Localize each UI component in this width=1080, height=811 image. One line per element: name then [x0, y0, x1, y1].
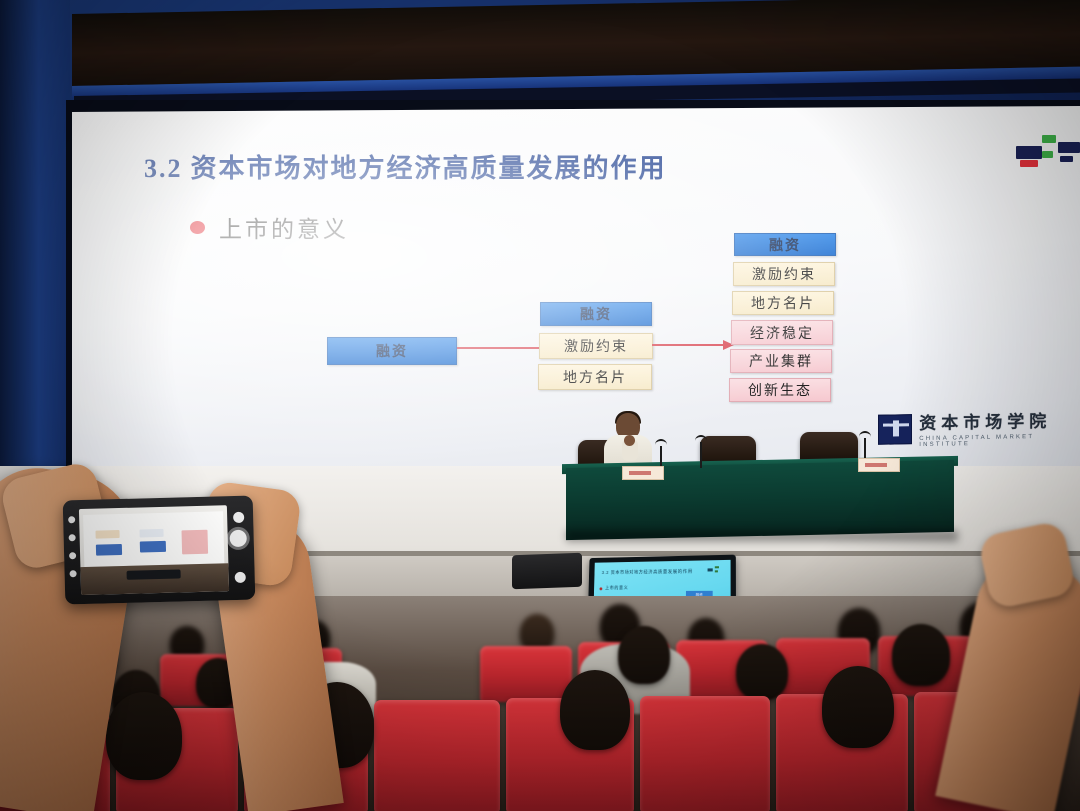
stage-speaker-box — [512, 553, 582, 589]
audience-head — [892, 624, 950, 686]
institute-logo-icon — [878, 414, 912, 445]
flow-box-s3-5: 创新生态 — [729, 378, 831, 402]
phone-gallery-button[interactable] — [233, 512, 244, 523]
monitor-deco-icon — [708, 566, 723, 573]
seat — [640, 696, 770, 811]
panel-table-shadow — [566, 530, 958, 542]
phone-preview-bar — [95, 530, 119, 539]
flow-box-s1-0: 融资 — [327, 337, 457, 365]
microphone-2 — [700, 442, 702, 468]
nameplate-2 — [858, 458, 900, 472]
speaker-hand — [624, 435, 635, 446]
audience-area — [0, 596, 1080, 811]
phone-preview-device — [127, 569, 181, 579]
flow-box-s2-2: 地方名片 — [538, 364, 652, 390]
seat — [374, 700, 500, 811]
audience-head — [822, 666, 894, 748]
phone-preview-slide — [83, 511, 224, 567]
phone-preview-bar — [181, 530, 208, 555]
phone-mode-dot[interactable] — [69, 534, 76, 541]
auditorium-photo-scene: 3.2资本市场对地方经济高质量发展的作用 上市的意义 融资 融资 激励约束 地方… — [0, 0, 1080, 811]
audience-head — [560, 670, 630, 750]
venue-sign-chinese: 资本市场学院 — [919, 406, 1080, 434]
flow-box-s3-3: 经济稳定 — [731, 320, 833, 345]
audience-head — [106, 692, 182, 780]
phone-camera-preview[interactable] — [79, 505, 229, 595]
flow-box-s2-0: 融资 — [540, 302, 652, 326]
venue-wall-sign: 资本市场学院 CHINA CAPITAL MARKET INSTITUTE — [878, 406, 1080, 449]
flow-box-s3-4: 产业集群 — [730, 349, 832, 373]
phone-mode-dot[interactable] — [68, 516, 75, 523]
nameplate-1 — [622, 466, 664, 480]
monitor-title-text: 3.2 资本市场对地方经济高质量发展的作用 — [602, 569, 693, 576]
seat — [480, 646, 572, 702]
audience-head — [736, 644, 788, 700]
flow-box-s3-2: 地方名片 — [732, 291, 834, 315]
monitor-bullet-text: 上市的意义 — [605, 585, 628, 591]
flow-box-s3-0: 融资 — [734, 233, 836, 256]
phone-mode-dot[interactable] — [69, 552, 76, 559]
wall-left-pillar — [0, 0, 70, 530]
phone-switch-camera-button[interactable] — [235, 572, 246, 583]
phone-mode-dot[interactable] — [70, 570, 77, 577]
flow-box-s2-1: 激励约束 — [539, 333, 653, 359]
audience-head — [618, 626, 670, 684]
flow-box-s3-1: 激励约束 — [733, 262, 835, 286]
phone-shutter-button[interactable] — [230, 530, 247, 547]
phone-preview-bar — [139, 529, 163, 538]
phone-preview-bar — [140, 541, 166, 553]
phone-preview-bar — [96, 544, 122, 556]
flow-arrow-2 — [652, 344, 732, 346]
audience-smartphone[interactable] — [63, 496, 256, 605]
